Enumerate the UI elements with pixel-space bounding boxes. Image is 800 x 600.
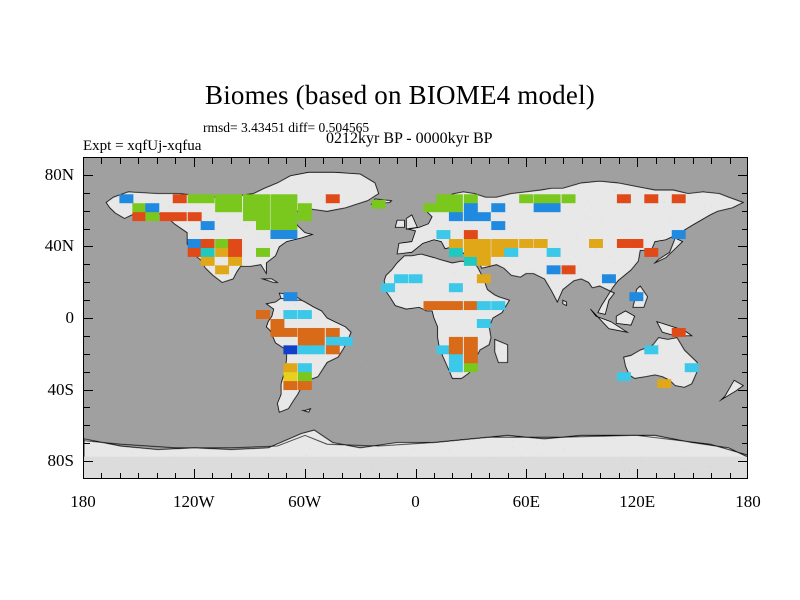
y-tick-label-4: 80S (20, 451, 74, 471)
x-tick-bottom (379, 473, 380, 479)
y-tick-left (84, 264, 90, 265)
x-tick-bottom (342, 473, 343, 479)
x-tick-top (120, 158, 121, 164)
x-tick-bottom (545, 473, 546, 479)
y-tick-right (738, 461, 747, 462)
x-tick-bottom (489, 473, 490, 479)
experiment-label: Expt = xqfUj-xqfua (83, 138, 201, 155)
x-tick-bottom (397, 473, 398, 479)
y-tick-left (84, 229, 90, 230)
x-tick-top (212, 158, 213, 164)
y-tick-label-3: 40S (20, 380, 74, 400)
x-tick-top (360, 158, 361, 164)
y-tick-left (84, 354, 90, 355)
y-tick-right (742, 372, 748, 373)
map-plot-area (83, 157, 748, 479)
y-tick-label-0: 80N (20, 165, 74, 185)
x-tick-top (231, 158, 232, 164)
x-tick-bottom (175, 473, 176, 479)
x-tick-top (175, 158, 176, 164)
x-tick-bottom (452, 473, 453, 479)
y-tick-left (84, 300, 90, 301)
y-tick-right (742, 425, 748, 426)
x-tick-bottom (120, 473, 121, 479)
y-tick-right (738, 390, 747, 391)
y-tick-label-1: 40N (20, 236, 74, 256)
x-tick-label-4: 60E (513, 492, 540, 512)
y-tick-left (84, 461, 93, 462)
x-tick-top (545, 158, 546, 164)
x-tick-top (416, 158, 417, 167)
x-tick-top (194, 158, 195, 167)
y-tick-right (742, 282, 748, 283)
time-period-label: 0212kyr BP - 0000kyr BP (326, 130, 493, 148)
x-tick-top (138, 158, 139, 164)
x-tick-top (600, 158, 601, 164)
y-tick-left (84, 372, 90, 373)
x-tick-top (563, 158, 564, 164)
x-tick-top (434, 158, 435, 164)
x-tick-bottom (693, 473, 694, 479)
x-tick-top (489, 158, 490, 164)
y-tick-left (84, 336, 90, 337)
world-map-canvas (84, 158, 747, 478)
y-tick-right (738, 318, 747, 319)
x-tick-bottom (508, 473, 509, 479)
y-tick-left (84, 175, 93, 176)
y-tick-right (742, 264, 748, 265)
x-tick-bottom (249, 473, 250, 479)
x-tick-top (619, 158, 620, 164)
x-tick-top (397, 158, 398, 164)
x-tick-bottom (268, 473, 269, 479)
y-tick-left (84, 390, 93, 391)
y-tick-left (84, 282, 90, 283)
x-tick-top (342, 158, 343, 164)
x-tick-top (323, 158, 324, 164)
x-tick-bottom (360, 473, 361, 479)
x-tick-bottom (711, 473, 712, 479)
x-tick-bottom (582, 473, 583, 479)
y-tick-left (84, 407, 90, 408)
x-tick-bottom (212, 473, 213, 479)
x-tick-label-5: 120E (619, 492, 655, 512)
y-tick-right (738, 175, 747, 176)
y-tick-left (84, 318, 93, 319)
x-tick-label-3: 0 (411, 492, 420, 512)
x-tick-label-6: 180 (735, 492, 761, 512)
x-tick-bottom (674, 473, 675, 479)
x-tick-bottom (563, 473, 564, 479)
x-tick-bottom (600, 473, 601, 479)
x-tick-top (471, 158, 472, 164)
x-tick-top (101, 158, 102, 164)
x-tick-top (452, 158, 453, 164)
x-tick-top (249, 158, 250, 164)
y-tick-left (84, 246, 93, 247)
x-tick-top (693, 158, 694, 164)
x-tick-top (286, 158, 287, 164)
x-tick-bottom (730, 473, 731, 479)
y-tick-right (742, 336, 748, 337)
y-tick-right (742, 300, 748, 301)
x-tick-bottom (101, 473, 102, 479)
biome-map-figure: Biomes (based on BIOME4 model) rmsd= 3.4… (0, 0, 800, 600)
x-tick-bottom (526, 469, 527, 478)
x-tick-bottom (323, 473, 324, 479)
y-tick-right (742, 193, 748, 194)
y-tick-label-2: 0 (20, 308, 74, 328)
x-tick-top (379, 158, 380, 164)
y-tick-left (84, 193, 90, 194)
y-tick-right (742, 354, 748, 355)
x-tick-label-0: 180 (70, 492, 96, 512)
x-tick-bottom (434, 473, 435, 479)
y-tick-left (84, 425, 90, 426)
x-tick-top (582, 158, 583, 164)
x-tick-bottom (619, 473, 620, 479)
x-tick-top (711, 158, 712, 164)
x-tick-bottom (471, 473, 472, 479)
y-tick-right (742, 407, 748, 408)
x-tick-label-1: 120W (173, 492, 215, 512)
x-tick-bottom (231, 473, 232, 479)
y-tick-right (742, 229, 748, 230)
x-tick-bottom (157, 473, 158, 479)
x-tick-top (305, 158, 306, 167)
x-tick-bottom (286, 473, 287, 479)
y-tick-left (84, 443, 90, 444)
x-tick-top (268, 158, 269, 164)
x-tick-bottom (416, 469, 417, 478)
y-tick-right (738, 246, 747, 247)
x-tick-top (637, 158, 638, 167)
x-tick-top (157, 158, 158, 164)
x-tick-bottom (656, 473, 657, 479)
x-tick-label-2: 60W (288, 492, 321, 512)
page-title: Biomes (based on BIOME4 model) (0, 80, 800, 111)
y-tick-right (742, 211, 748, 212)
x-tick-top (730, 158, 731, 164)
x-tick-bottom (194, 469, 195, 478)
x-tick-top (656, 158, 657, 164)
x-tick-top (526, 158, 527, 167)
x-tick-bottom (138, 473, 139, 479)
x-tick-top (508, 158, 509, 164)
x-tick-bottom (637, 469, 638, 478)
y-tick-right (742, 443, 748, 444)
x-tick-top (674, 158, 675, 164)
x-tick-bottom (305, 469, 306, 478)
y-tick-left (84, 211, 90, 212)
